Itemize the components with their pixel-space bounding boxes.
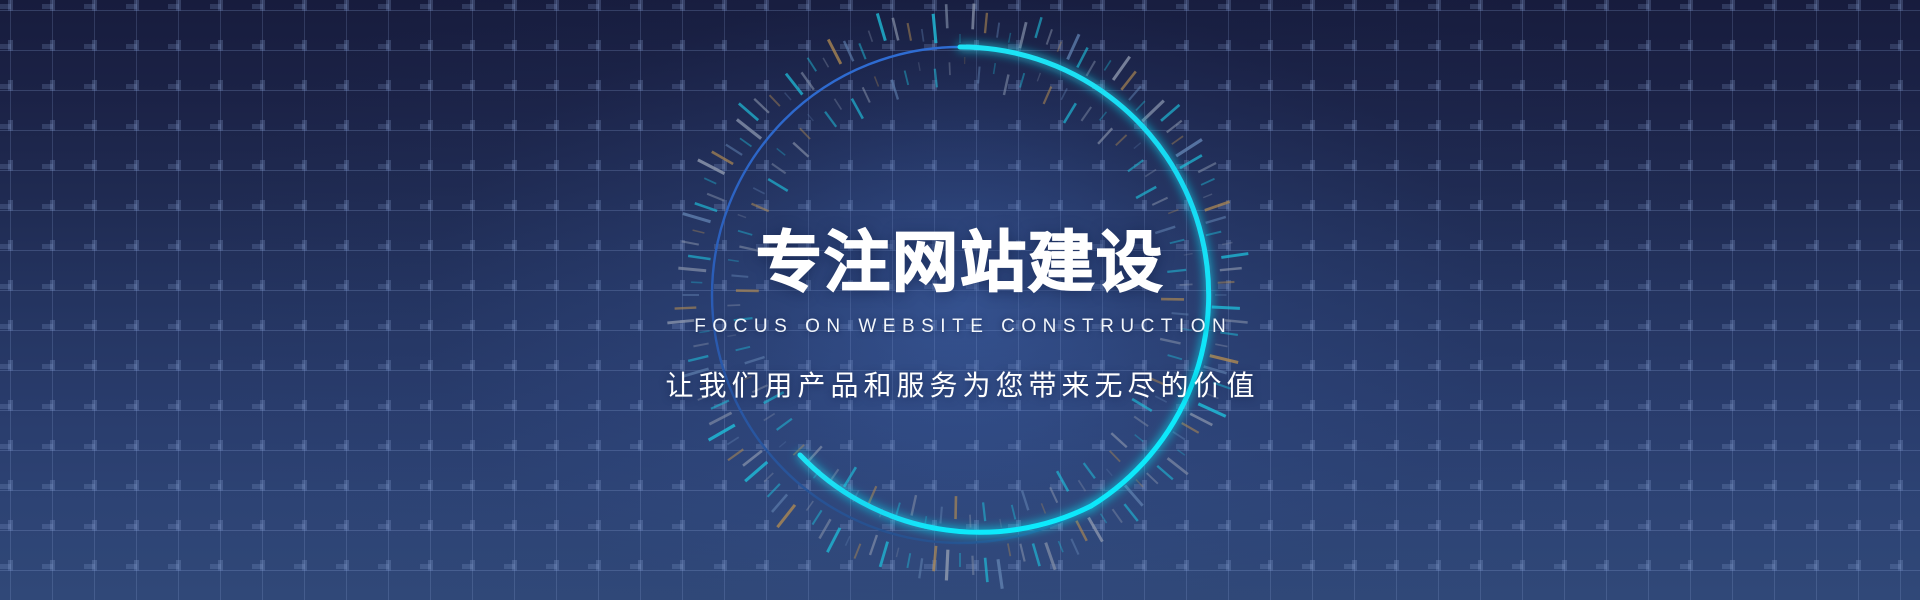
tick-mark-inner xyxy=(880,509,883,517)
tick-mark xyxy=(683,214,711,222)
tick-mark-inner xyxy=(751,204,768,212)
tick-mark xyxy=(1161,105,1179,121)
tick-mark xyxy=(772,495,787,512)
tick-mark xyxy=(1198,163,1216,172)
tick-mark-inner xyxy=(1000,519,1002,528)
tick-mark xyxy=(819,519,830,538)
page-title: 专注网站建设 xyxy=(0,228,1920,298)
tick-mark-inner xyxy=(829,469,839,483)
tick-mark xyxy=(709,425,735,440)
tick-mark-inner xyxy=(983,502,985,521)
tick-mark xyxy=(1167,121,1182,133)
tick-mark xyxy=(754,99,769,113)
tick-mark-inner xyxy=(1061,88,1067,100)
tick-mark xyxy=(1157,466,1173,480)
tick-mark xyxy=(1198,404,1225,417)
tick-mark xyxy=(908,23,911,41)
tick-mark xyxy=(1182,423,1199,433)
tick-mark-inner xyxy=(949,62,950,75)
tick-mark xyxy=(704,178,716,183)
tick-mark xyxy=(737,120,761,139)
tick-mark xyxy=(1057,42,1061,52)
tick-mark xyxy=(919,558,922,578)
tick-mark xyxy=(1206,217,1226,223)
tick-mark-inner xyxy=(1012,505,1016,519)
tick-mark xyxy=(1047,29,1052,44)
tick-mark xyxy=(828,39,841,63)
tick-mark xyxy=(695,203,717,211)
tick-mark-inner xyxy=(764,414,775,421)
tick-mark xyxy=(827,528,840,552)
tick-mark xyxy=(709,413,731,424)
tick-mark-inner xyxy=(738,215,746,218)
tick-mark xyxy=(1101,514,1107,523)
tick-mark-inner xyxy=(1168,210,1178,214)
tick-mark-inner xyxy=(925,516,927,527)
tick-mark xyxy=(869,31,873,42)
tick-mark-inner xyxy=(1152,198,1167,205)
tick-mark xyxy=(845,536,849,546)
tick-mark xyxy=(745,462,767,481)
tick-mark xyxy=(1180,155,1202,168)
banner-text-block: 专注网站建设 FOCUS ON WEBSITE CONSTRUCTION 让我们… xyxy=(0,228,1920,404)
tick-mark-inner xyxy=(835,99,842,110)
tick-mark xyxy=(985,13,987,33)
tick-mark xyxy=(854,544,860,559)
tick-mark-inner xyxy=(793,445,804,455)
tick-mark xyxy=(1009,33,1011,43)
tick-mark xyxy=(1125,485,1143,505)
tick-mark xyxy=(707,194,724,201)
tick-mark xyxy=(933,14,936,43)
tick-mark-inner xyxy=(1081,107,1091,121)
tick-mark-inner xyxy=(844,467,856,487)
tick-mark xyxy=(728,449,743,460)
tick-mark-inner xyxy=(793,143,808,157)
tick-mark xyxy=(1033,544,1040,567)
tick-mark-inner xyxy=(1116,135,1127,145)
tick-mark-inner xyxy=(970,515,971,528)
tick-mark xyxy=(1124,504,1137,521)
tick-mark xyxy=(1076,521,1086,541)
tick-mark xyxy=(934,546,936,571)
tick-mark xyxy=(727,437,738,444)
tick-mark xyxy=(1201,179,1214,185)
tick-mark-inner xyxy=(994,63,996,74)
tick-mark-inner xyxy=(905,71,909,85)
tick-mark-inner xyxy=(896,503,900,517)
tick-mark xyxy=(823,58,828,67)
tick-mark-inner xyxy=(1145,170,1156,177)
tick-mark xyxy=(922,29,924,42)
tick-mark-inner xyxy=(777,419,792,430)
tick-mark xyxy=(1173,432,1185,440)
tick-mark-inner xyxy=(1020,73,1024,87)
tick-mark xyxy=(739,103,758,120)
tick-mark-inner xyxy=(1004,75,1009,96)
tick-mark-inner xyxy=(912,495,916,515)
tick-mark xyxy=(1058,541,1062,552)
tick-mark xyxy=(1113,509,1122,522)
tick-mark xyxy=(1104,60,1110,70)
tick-mark xyxy=(1036,17,1042,38)
tick-mark-inner xyxy=(1134,143,1141,149)
tick-mark-inner xyxy=(1106,469,1112,476)
tick-mark xyxy=(1089,518,1103,542)
tick-mark xyxy=(777,505,795,527)
tick-mark xyxy=(1136,480,1143,487)
tick-mark xyxy=(997,23,999,38)
tick-mark xyxy=(870,535,877,555)
tick-mark-inner xyxy=(1037,73,1040,81)
tick-mark-inner xyxy=(768,179,788,191)
tick-mark xyxy=(1008,543,1010,556)
tick-mark xyxy=(1176,140,1202,157)
tick-mark xyxy=(1121,71,1135,89)
tagline-chinese: 让我们用产品和服务为您带来无尽的价值 xyxy=(0,364,1920,404)
tick-mark-inner xyxy=(978,67,979,84)
tick-mark-inner xyxy=(1135,435,1144,442)
tick-mark-inner xyxy=(753,188,764,194)
tick-mark xyxy=(1113,57,1130,80)
tick-mark xyxy=(712,152,733,164)
tick-mark-inner xyxy=(825,112,836,127)
tick-mark-inner xyxy=(1100,112,1107,121)
tick-mark-inner xyxy=(852,99,863,119)
tick-mark xyxy=(1046,543,1055,570)
tick-mark xyxy=(1129,86,1141,100)
tick-mark xyxy=(896,548,898,557)
tick-mark xyxy=(907,553,910,568)
tick-mark xyxy=(812,510,821,524)
tick-mark-inner xyxy=(808,446,822,461)
tick-mark-inner xyxy=(853,490,859,501)
tick-mark xyxy=(1077,48,1087,68)
tick-mark xyxy=(1068,34,1080,59)
tick-mark xyxy=(807,501,814,510)
tick-mark-inner xyxy=(808,114,814,121)
tick-mark xyxy=(972,556,973,575)
tick-mark xyxy=(893,18,898,41)
tick-mark xyxy=(859,43,865,59)
tick-mark xyxy=(743,451,762,466)
tick-mark xyxy=(946,550,947,581)
tick-mark xyxy=(985,558,987,582)
tick-mark xyxy=(1147,473,1158,484)
tick-mark-inner xyxy=(863,87,870,102)
hero-banner: 专注网站建设 FOCUS ON WEBSITE CONSTRUCTION 让我们… xyxy=(0,0,1920,600)
tick-mark xyxy=(1203,194,1212,198)
tick-mark-inner xyxy=(779,442,786,448)
tick-mark-inner xyxy=(1128,160,1143,171)
tick-mark xyxy=(1020,544,1024,562)
tick-mark-inner xyxy=(1098,128,1112,143)
tick-mark-inner xyxy=(1136,187,1156,198)
tick-mark-inner xyxy=(1084,463,1095,478)
tick-mark xyxy=(726,145,742,155)
tick-mark-inner xyxy=(1057,471,1068,491)
tick-mark-inner xyxy=(1134,417,1148,427)
tick-mark xyxy=(768,484,780,497)
tick-mark-inner xyxy=(940,507,941,524)
tick-mark xyxy=(786,74,802,95)
subtitle-english: FOCUS ON WEBSITE CONSTRUCTION xyxy=(0,316,1920,338)
tick-mark xyxy=(769,95,779,106)
tick-mark-inner xyxy=(1050,487,1057,502)
tick-mark xyxy=(1142,101,1163,121)
tick-mark-inner xyxy=(1111,433,1126,447)
tick-mark xyxy=(740,138,751,146)
tick-mark xyxy=(880,542,887,567)
tick-mark xyxy=(1190,414,1212,425)
tick-mark xyxy=(844,41,853,61)
tick-mark xyxy=(1071,539,1078,555)
tick-mark-inner xyxy=(800,128,810,139)
cyan-highlight-arc-bottom xyxy=(800,455,1091,532)
tick-mark xyxy=(801,72,813,89)
tick-mark-inner xyxy=(777,148,785,155)
tick-mark-inner xyxy=(1110,451,1120,462)
tick-mark-inner xyxy=(1078,480,1085,491)
tick-mark xyxy=(764,473,773,482)
tick-mark-inner xyxy=(875,76,879,86)
tick-mark xyxy=(998,559,1002,588)
tick-mark xyxy=(1020,22,1026,48)
tick-mark-inner xyxy=(892,80,898,100)
tick-mark xyxy=(785,93,791,100)
tick-mark xyxy=(973,4,974,30)
tick-mark-inner xyxy=(919,62,921,71)
tick-mark xyxy=(698,160,725,174)
tick-mark xyxy=(1087,61,1096,76)
tick-mark xyxy=(1172,136,1183,144)
tick-mark xyxy=(946,4,947,28)
tick-mark-inner xyxy=(813,470,820,479)
tick-mark-inner xyxy=(1041,503,1045,513)
tick-mark xyxy=(877,13,885,40)
tick-mark xyxy=(1205,202,1230,211)
tick-mark-inner xyxy=(935,69,937,88)
tick-mark-inner xyxy=(772,164,786,174)
tick-mark xyxy=(1168,458,1188,474)
tick-mark-inner xyxy=(869,486,877,503)
tick-mark-inner xyxy=(1044,87,1052,104)
tick-mark-inner xyxy=(1064,103,1076,123)
tick-mark xyxy=(808,58,817,72)
tick-mark xyxy=(1177,450,1184,455)
tick-mark-inner xyxy=(1022,490,1028,510)
tick-mark xyxy=(1136,101,1145,110)
